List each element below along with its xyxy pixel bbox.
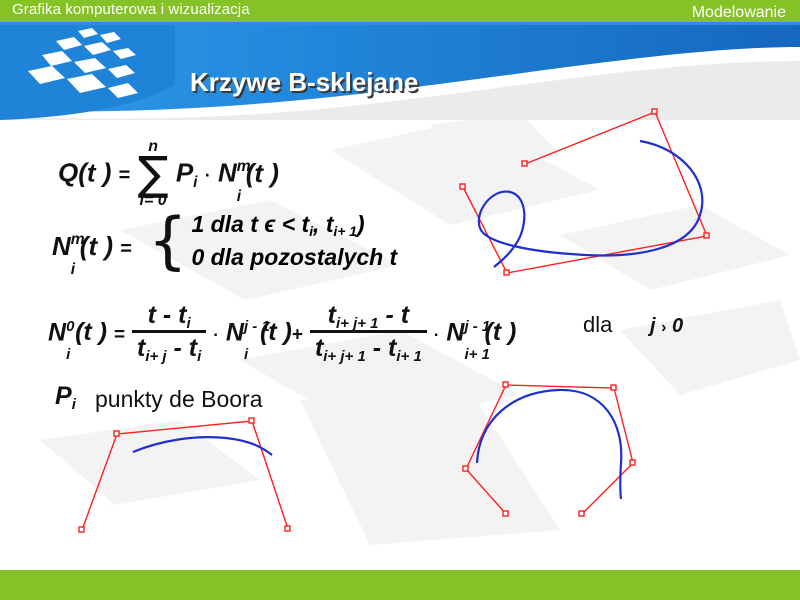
eq3-condition-expr: j › 0	[650, 316, 683, 336]
slide-canvas: Grafika komputerowa i wizualizacja	[0, 0, 800, 600]
case-row-2: 0 dla pozostalych t	[191, 241, 397, 274]
fraction-2-denominator: ti+ j+ 1 - ti+ 1	[310, 335, 427, 361]
sigma-icon: ∑	[138, 155, 169, 193]
course-title: Grafika komputerowa i wizualizacja	[12, 1, 250, 18]
control-polygon	[466, 385, 633, 514]
case1-text: 1 dla t ϵ < t	[191, 211, 309, 237]
control-points	[460, 109, 709, 275]
spline-curve	[133, 437, 272, 455]
eq3-equals: =	[114, 324, 125, 345]
summation-operator: n ∑ i= 0	[138, 139, 169, 209]
eq1-p-sub: i	[193, 174, 197, 191]
formula-cox-de-boor: N0i(t ) = t - ti ti+ j - ti · Nj - 1i(t …	[48, 304, 516, 364]
eq3-condition-val: 0	[672, 315, 683, 337]
eq1-p: P	[176, 158, 193, 188]
eq1-dot: ·	[205, 166, 211, 186]
spline-curve	[479, 141, 703, 267]
eq3-plus: +	[292, 324, 303, 345]
logo-line1: E-STUDIA	[26, 125, 136, 135]
eq2-equals: =	[120, 238, 132, 260]
eq1-n: N	[218, 158, 237, 188]
fraction-1-bar	[132, 330, 206, 333]
case1-sub2: i+ 1	[334, 224, 357, 239]
case2-text: 0 dla pozostalych t	[191, 244, 397, 270]
eq3-condition-op: ›	[661, 319, 666, 336]
case-brace-icon: {	[148, 216, 187, 267]
eq1-lhs: Q	[58, 158, 78, 188]
footer-green-bar	[0, 570, 800, 600]
eq3-dot-1: ·	[213, 325, 219, 344]
eq3-condition-var: j	[650, 315, 656, 337]
case1-end: )	[357, 211, 365, 237]
eq3-lhs-arg: (t )	[75, 318, 107, 346]
case1-sub1: i	[309, 224, 313, 239]
case-row-1: 1 dla t ϵ < ti, ti+ 1)	[191, 208, 397, 241]
fraction-1-numerator: t - ti	[132, 302, 206, 328]
eq1-lhs-arg: (t )	[78, 158, 111, 188]
formula-basis-degree-m-lhs: Nmi(t ) =	[52, 233, 132, 259]
control-points	[463, 382, 635, 516]
eq3-term1: N	[226, 318, 244, 346]
eq2-lhs: N	[52, 231, 71, 261]
control-points	[79, 418, 290, 532]
eq1-equals: =	[119, 165, 131, 187]
eq3-condition-word: dla	[583, 312, 612, 338]
formula-basis-cases: { 1 dla t ϵ < ti, ti+ 1) 0 dla pozostaly…	[148, 208, 397, 275]
case1-mid: , t	[313, 211, 333, 237]
fraction-1-denominator: ti+ j - ti	[132, 335, 206, 361]
eq3-lhs: N	[48, 318, 66, 346]
estudia-logo-icon	[18, 27, 148, 122]
control-polygon	[82, 421, 288, 530]
fraction-1: t - ti ti+ j - ti	[132, 302, 206, 362]
eq3-dot-2: ·	[434, 325, 440, 344]
footer-section-label: Modelowanie	[692, 4, 786, 22]
fraction-2: ti+ j+ 1 - t ti+ j+ 1 - ti+ 1	[310, 302, 427, 362]
case-rows: 1 dla t ϵ < ti, ti+ 1) 0 dla pozostalych…	[191, 208, 397, 275]
spline-curve	[477, 390, 621, 499]
diagram-arc-bspline-4pt	[60, 405, 320, 545]
diagram-dome-bspline-6pt	[450, 370, 660, 535]
slide-title: Krzywe B-sklejane	[190, 67, 418, 98]
formula-q-of-t: Q(t ) = n ∑ i= 0 Pi · Nmi(t )	[58, 140, 279, 210]
diagram-s-shaped-bspline	[440, 95, 800, 295]
eq3-term2: N	[446, 318, 464, 346]
logo-line2: INFORMATYCZNE	[26, 136, 136, 145]
fraction-2-numerator: ti+ j+ 1 - t	[310, 302, 427, 328]
